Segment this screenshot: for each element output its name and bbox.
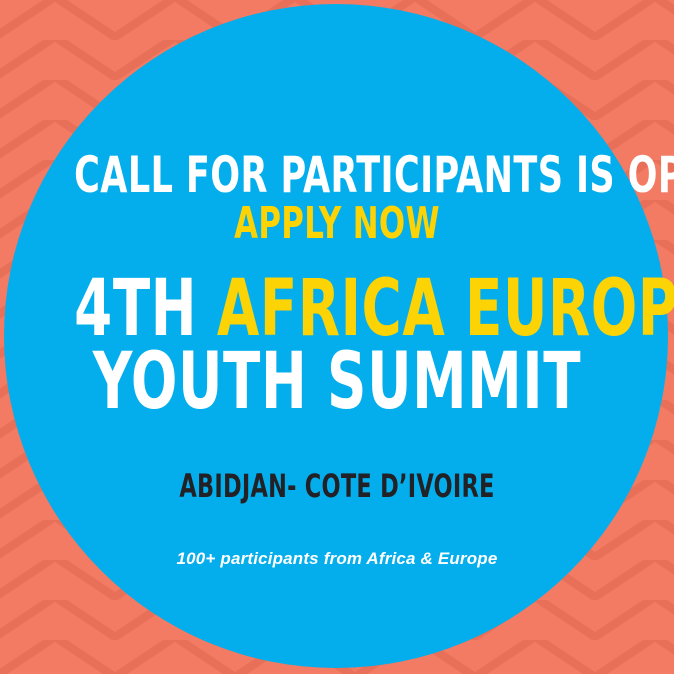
poster-content: CALL FOR PARTICIPANTS IS OPEN! APPLY NOW…: [0, 0, 674, 674]
location-line: ABIDJAN- COTE D’IVOIRE: [74, 470, 600, 502]
event-poster: CALL FOR PARTICIPANTS IS OPEN! APPLY NOW…: [0, 0, 674, 674]
participants-footnote: 100+ participants from Africa & Europe: [0, 550, 674, 567]
title-line-two: YOUTH SUMMIT: [74, 343, 600, 421]
announcement-line: CALL FOR PARTICIPANTS IS OPEN!: [74, 150, 600, 200]
apply-now-cta: APPLY NOW: [74, 202, 600, 246]
